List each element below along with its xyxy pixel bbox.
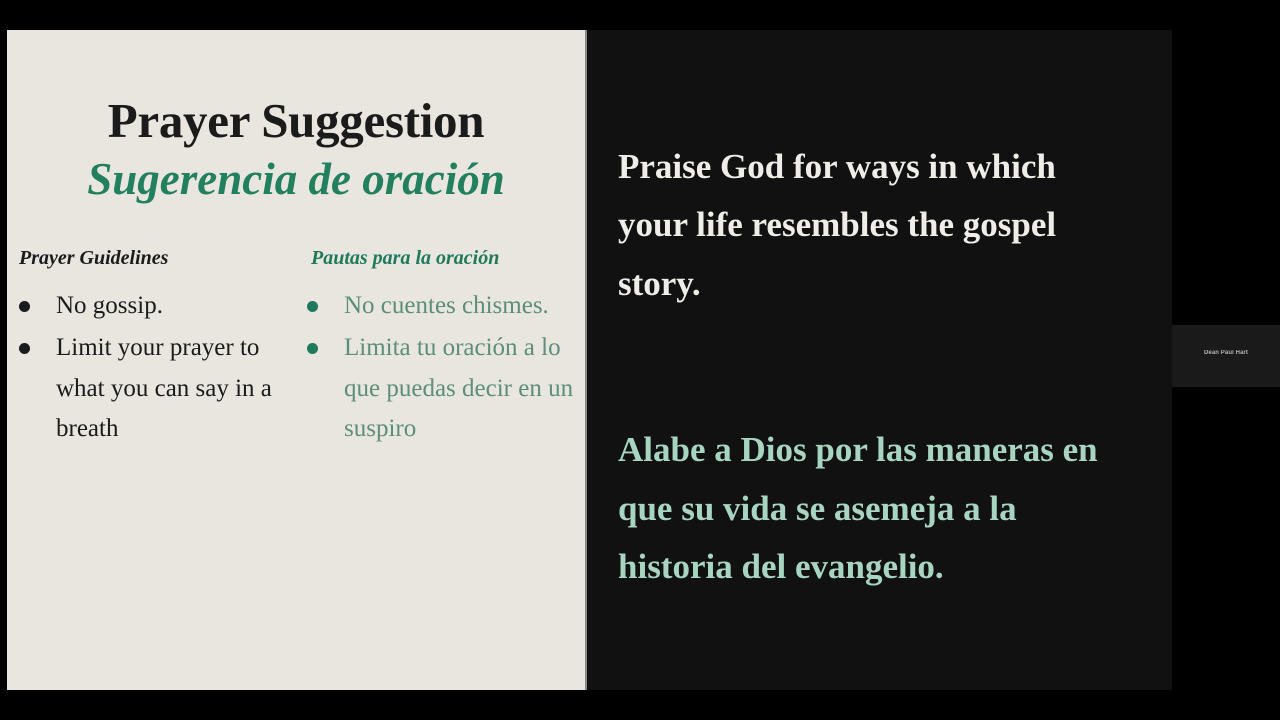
guidelines-list-english: No gossip. Limit your prayer to what you…	[19, 286, 287, 450]
guidelines-column-spanish: Pautas para la oración No cuentes chisme…	[307, 247, 575, 452]
list-item-label: Limita tu oración a lo que puedas decir …	[344, 328, 575, 450]
list-item-label: Limit your prayer to what you can say in…	[56, 328, 287, 450]
participant-name-label: Dean Paul Hart	[1172, 350, 1280, 356]
participant-video-tile[interactable]: Dean Paul Hart	[1172, 325, 1280, 387]
list-item: Limit your prayer to what you can say in…	[19, 328, 287, 450]
guidelines-columns: Prayer Guidelines No gossip. Limit your …	[7, 247, 585, 452]
list-item: No gossip.	[19, 286, 287, 327]
list-item: Limita tu oración a lo que puedas decir …	[307, 328, 575, 450]
guidelines-heading-spanish: Pautas para la oración	[307, 247, 575, 270]
bullet-dot-icon	[19, 343, 30, 354]
list-item-label: No gossip.	[56, 286, 287, 327]
list-item-label: No cuentes chismes.	[344, 286, 575, 327]
bullet-dot-icon	[19, 301, 30, 312]
screen-root: Prayer Suggestion Sugerencia de oración …	[0, 0, 1280, 720]
guidelines-heading-english: Prayer Guidelines	[19, 247, 287, 270]
statement-spanish: Alabe a Dios por las maneras en que su v…	[618, 421, 1126, 596]
slide-right-panel: Praise God for ways in which your life r…	[587, 30, 1172, 690]
bullet-dot-icon	[307, 343, 318, 354]
bullet-dot-icon	[307, 301, 318, 312]
slide-title-block: Prayer Suggestion Sugerencia de oración	[7, 30, 585, 205]
shared-slide: Prayer Suggestion Sugerencia de oración …	[7, 30, 1172, 690]
guidelines-column-english: Prayer Guidelines No gossip. Limit your …	[19, 247, 287, 452]
slide-left-panel: Prayer Suggestion Sugerencia de oración …	[7, 30, 587, 690]
page-title-spanish: Sugerencia de oración	[37, 155, 555, 205]
statement-english: Praise God for ways in which your life r…	[618, 138, 1126, 313]
list-item: No cuentes chismes.	[307, 286, 575, 327]
page-title-english: Prayer Suggestion	[37, 96, 555, 145]
guidelines-list-spanish: No cuentes chismes. Limita tu oración a …	[307, 286, 575, 450]
